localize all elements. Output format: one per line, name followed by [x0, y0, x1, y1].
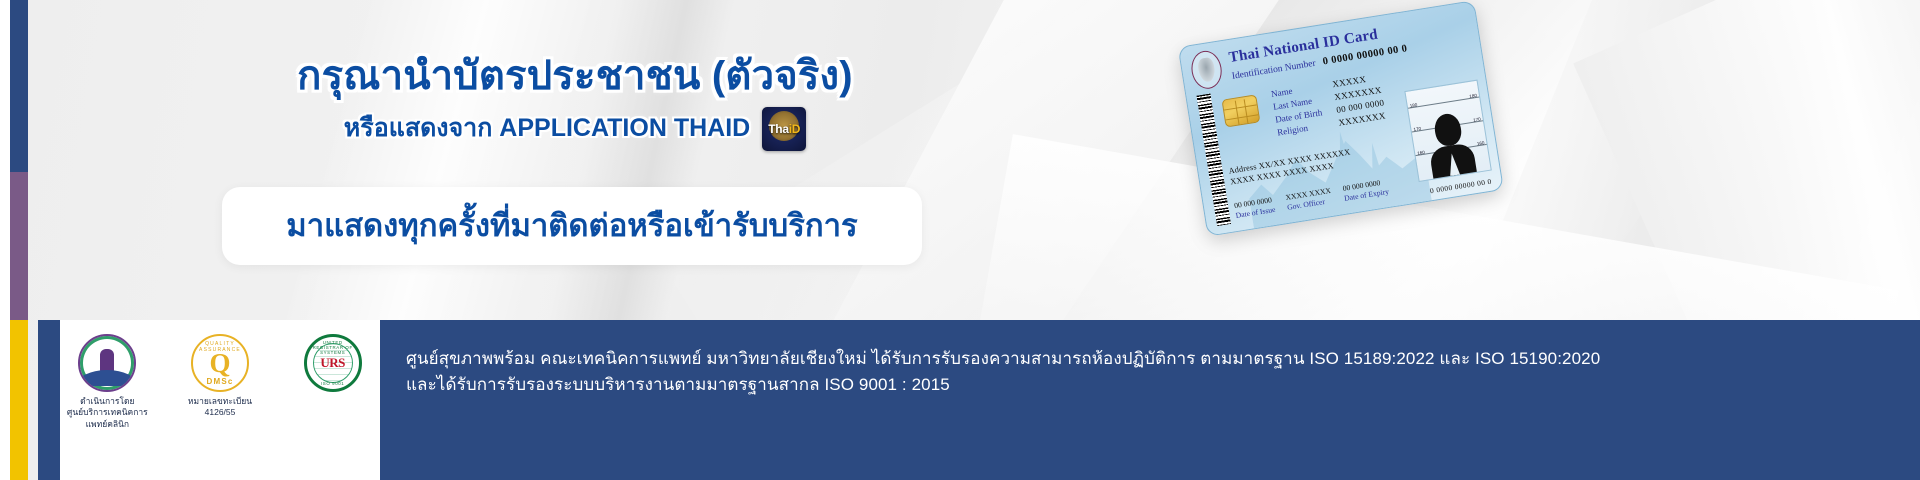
urs-iso-9001-logo-icon: UNITED REGISTRAR OF SYSTEMS URS ISO 9001 — [304, 334, 362, 392]
footer-bar: ดำเนินการโดย ศูนย์บริการเทคนิคการแพทย์คล… — [0, 320, 1920, 480]
thai-national-id-card-illustration: Thai National ID Card Identification Num… — [1178, 0, 1515, 302]
headline-block: กรุณานำบัตรประชาชน (ตัวจริง) หรือแสดงจาก… — [215, 52, 935, 151]
card-photo-placeholder: 180 180 170 170 160 160 — [1404, 80, 1491, 182]
footer-logo-caption-line1: หมายเลขทะเบียน 4126/55 — [173, 396, 268, 419]
footer-logo-caption-line2: ศูนย์บริการเทคนิคการแพทย์คลินิก — [60, 407, 155, 430]
thaid-label-id: iD — [789, 122, 800, 136]
person-silhouette-icon — [1424, 111, 1477, 179]
callout-text: มาแสดงทุกครั้งที่มาติดต่อหรือเข้ารับบริก… — [286, 207, 857, 244]
footer-logo-caption-line1: ดำเนินการโดย — [60, 396, 155, 407]
footer-logo-item: ดำเนินการโดย ศูนย์บริการเทคนิคการแพทย์คล… — [60, 334, 155, 430]
thaid-icon-label: ThaiD — [762, 122, 806, 136]
footer-text-panel: ศูนย์สุขภาพพร้อม คณะเทคนิคการแพทย์ มหาวิ… — [380, 320, 1920, 480]
photo-tick-label: 170 — [1413, 126, 1421, 132]
footer-text-line-2: และได้รับการรับรองระบบบริหารงานตามมาตรฐา… — [406, 372, 1920, 398]
footer-logo-strip: ดำเนินการโดย ศูนย์บริการเทคนิคการแพทย์คล… — [60, 320, 380, 480]
photo-tick-label: 160 — [1417, 150, 1425, 156]
urs-ring-bottom-text: ISO 9001 — [307, 381, 359, 386]
garuda-seal-icon — [1189, 49, 1225, 91]
id-card-notice-banner: กรุณานำบัตรประชาชน (ตัวจริง) หรือแสดงจาก… — [0, 0, 1920, 480]
headline-secondary: หรือแสดงจาก APPLICATION THAID — [344, 113, 750, 144]
headline-primary: กรุณานำบัตรประชาชน (ตัวจริง) — [215, 52, 935, 101]
smart-chip-icon — [1221, 94, 1260, 127]
photo-tick-label: 160 — [1476, 140, 1484, 146]
urs-ring-top-text: UNITED REGISTRAR OF SYSTEMS — [307, 340, 359, 355]
photo-tick-label: 170 — [1473, 117, 1481, 123]
callout-card: มาแสดงทุกครั้งที่มาติดต่อหรือเข้ารับบริก… — [222, 187, 922, 265]
urs-center-text: URS — [320, 355, 345, 371]
footer-logo-caption: ดำเนินการโดย ศูนย์บริการเทคนิคการแพทย์คล… — [60, 396, 155, 430]
thaid-label-tha: Tha — [768, 122, 788, 136]
thaid-app-icon: ThaiD — [762, 107, 806, 151]
footer-logo-caption: หมายเลขทะเบียน 4126/55 — [173, 396, 268, 419]
footer-text-line-1: ศูนย์สุขภาพพร้อม คณะเทคนิคการแพทย์ มหาวิ… — [406, 346, 1920, 372]
footer-logo-item: UNITED REGISTRAR OF SYSTEMS URS ISO 9001 — [285, 334, 380, 392]
photo-tick-label: 180 — [1469, 93, 1477, 99]
footer-logo-item: QUALITY ASSURANCE Q DMSc หมายเลขทะเบียน … — [173, 334, 268, 419]
amlt-clinic-logo-icon — [78, 334, 136, 392]
dmsc-ring-top-text: QUALITY ASSURANCE — [193, 341, 247, 353]
card-bottom-number: 0 0000 00000 00 0 — [1429, 177, 1492, 196]
dmsc-quality-assurance-logo-icon: QUALITY ASSURANCE Q DMSc — [191, 334, 249, 392]
dmsc-center-letter: Q — [209, 350, 230, 377]
headline-secondary-row: หรือแสดงจาก APPLICATION THAID ThaiD — [215, 107, 935, 151]
photo-tick-label: 180 — [1409, 102, 1417, 108]
dmsc-ring-bottom-text: DMSc — [193, 377, 247, 386]
